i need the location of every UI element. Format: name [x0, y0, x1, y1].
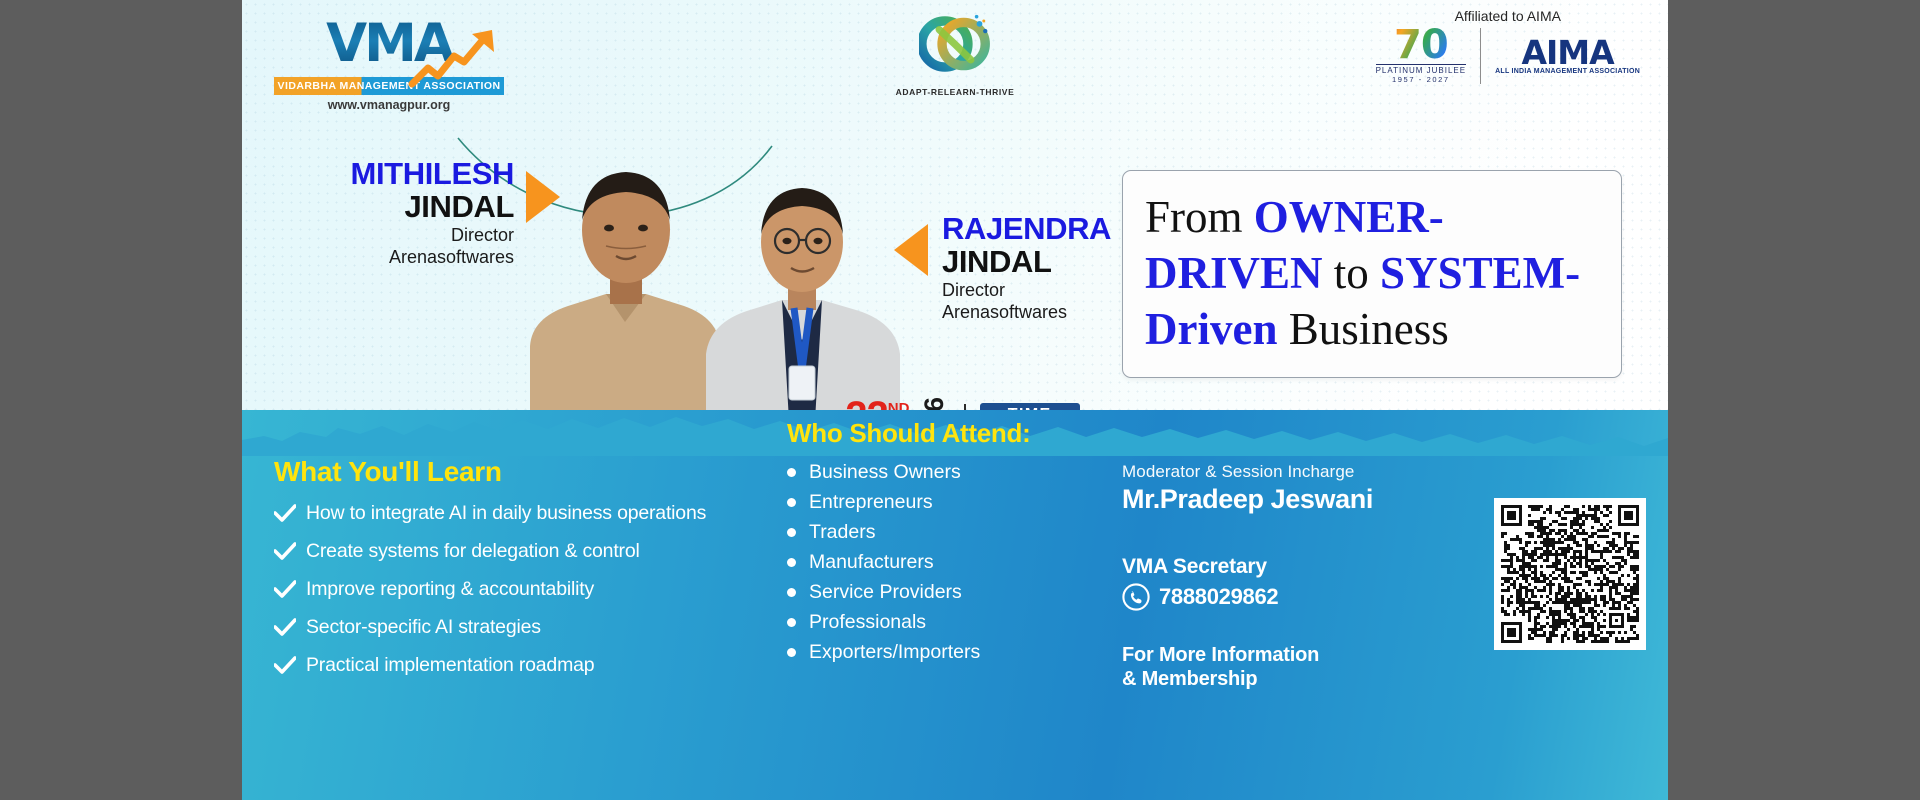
learn-section-title: What You'll Learn [274, 456, 744, 488]
speaker-name-block-mithilesh: MITHILESH JINDAL Director Arenasoftwares [242, 157, 514, 268]
list-item: How to integrate AI in daily business op… [274, 502, 744, 525]
aima-mark: AIMA ALL INDIA MANAGEMENT ASSOCIATION [1495, 38, 1640, 75]
list-item: Create systems for delegation & control [274, 540, 744, 563]
bullet-icon [787, 558, 796, 567]
bullet-icon [787, 588, 796, 597]
bottom-info-panel: What You'll Learn How to integrate AI in… [242, 410, 1668, 800]
bullet-icon [787, 498, 796, 507]
list-item: Service Providers [787, 581, 1097, 603]
list-item: Exporters/Importers [787, 641, 1097, 663]
screenshot-canvas: VMA VIDARBHA MANAGEMENT ASSOCIATION www.… [0, 0, 1920, 800]
center-logo-tagline: ADAPT-RELEARN-THRIVE [880, 87, 1030, 97]
attend-list: Business Owners Entrepreneurs Traders Ma… [787, 461, 1097, 663]
aima-wordmark: AIMA [1495, 38, 1640, 68]
list-item: Traders [787, 521, 1097, 543]
aima-logo-block: Affiliated to AIMA 70 PLATINUM JUBILEE 1… [1376, 8, 1640, 84]
learn-list: How to integrate AI in daily business op… [274, 502, 744, 677]
aima-fullname: ALL INDIA MANAGEMENT ASSOCIATION [1495, 68, 1640, 75]
qr-code[interactable] [1494, 498, 1646, 650]
headline-part1: From [1145, 192, 1254, 242]
arrow-pointer-left-icon [894, 224, 928, 276]
attend-item-text: Exporters/Importers [809, 641, 980, 663]
bullet-icon [787, 528, 796, 537]
vma-wordmark: VMA [287, 14, 492, 74]
more-info-line2: & Membership [1122, 667, 1642, 691]
phone-number[interactable]: 7888029862 [1159, 584, 1278, 610]
learn-item-text: Improve reporting & accountability [306, 578, 594, 601]
headline-part2: to [1323, 248, 1381, 298]
list-item: Practical implementation roadmap [274, 654, 744, 677]
learn-item-text: Create systems for delegation & control [306, 540, 640, 563]
speaker-first-name: MITHILESH [242, 157, 514, 190]
attend-section-title: Who Should Attend: [787, 418, 1097, 449]
jubilee-years: 1957 - 2027 [1376, 75, 1467, 84]
bullet-icon [787, 618, 796, 627]
qr-code-canvas [1501, 505, 1639, 643]
speaker-last-name: JINDAL [242, 190, 514, 224]
list-item: Professionals [787, 611, 1097, 633]
jubilee-label: PLATINUM JUBILEE [1376, 64, 1467, 75]
adapt-relearn-thrive-logo: ADAPT-RELEARN-THRIVE [880, 8, 1030, 97]
infinity-knot-icon [919, 8, 991, 80]
more-info-block: For More Information & Membership [1122, 643, 1642, 691]
check-icon [274, 504, 296, 522]
what-you-will-learn-section: What You'll Learn How to integrate AI in… [274, 456, 744, 692]
event-poster: VMA VIDARBHA MANAGEMENT ASSOCIATION www.… [242, 0, 1668, 800]
vma-fullname: VIDARBHA MANAGEMENT ASSOCIATION [274, 77, 504, 95]
platinum-jubilee-emblem: 70 PLATINUM JUBILEE 1957 - 2027 [1376, 28, 1467, 84]
check-icon [274, 618, 296, 636]
check-icon [274, 542, 296, 560]
event-headline: From OWNER-DRIVEN to SYSTEM-Driven Busin… [1122, 170, 1622, 378]
attend-item-text: Service Providers [809, 581, 962, 603]
attend-item-text: Professionals [809, 611, 926, 633]
learn-item-text: Sector-specific AI strategies [306, 616, 541, 639]
check-icon [274, 656, 296, 674]
moderator-label: Moderator & Session Incharge [1122, 462, 1642, 482]
who-should-attend-section: Who Should Attend: Business Owners Entre… [787, 418, 1097, 671]
attend-item-text: Manufacturers [809, 551, 934, 573]
vma-logo: VMA VIDARBHA MANAGEMENT ASSOCIATION www.… [274, 14, 504, 112]
learn-item-text: How to integrate AI in daily business op… [306, 502, 706, 525]
list-item: Manufacturers [787, 551, 1097, 573]
attend-item-text: Business Owners [809, 461, 961, 483]
speaker-title: Director [242, 224, 514, 246]
list-item: Improve reporting & accountability [274, 578, 744, 601]
bullet-icon [787, 468, 796, 477]
list-item: Sector-specific AI strategies [274, 616, 744, 639]
list-item: Business Owners [787, 461, 1097, 483]
attend-item-text: Traders [809, 521, 875, 543]
phone-icon [1122, 583, 1150, 611]
learn-item-text: Practical implementation roadmap [306, 654, 594, 677]
speaker-company: Arenasoftwares [242, 246, 514, 268]
check-icon [274, 580, 296, 598]
headline-part3: Business [1277, 304, 1448, 354]
arrow-pointer-right-icon [526, 171, 560, 223]
logo-divider [1480, 28, 1481, 84]
jubilee-number: 70 [1376, 28, 1467, 62]
attend-item-text: Entrepreneurs [809, 491, 933, 513]
bullet-icon [787, 648, 796, 657]
list-item: Entrepreneurs [787, 491, 1097, 513]
